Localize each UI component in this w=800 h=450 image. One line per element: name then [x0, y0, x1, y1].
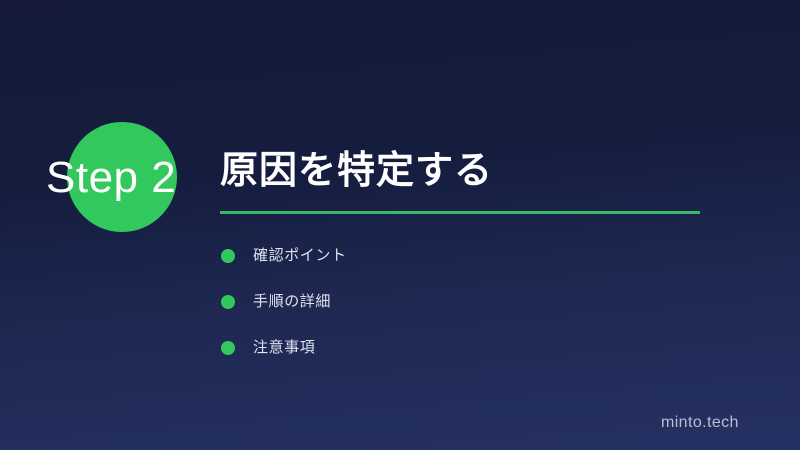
list-item: 注意事項 — [220, 325, 690, 371]
footer-brand: minto.tech — [661, 414, 739, 432]
step-badge-label: Step 2 — [46, 152, 206, 204]
list-item-label: 確認ポイント — [253, 246, 347, 266]
bullet-dot-icon — [221, 295, 235, 309]
bullet-dot-icon — [221, 249, 235, 263]
presentation-slide: Step 2 原因を特定する 確認ポイント 手順の詳細 注意事項 minto.t… — [0, 0, 800, 450]
slide-title: 原因を特定する — [220, 146, 493, 196]
bullet-dot-icon — [221, 341, 235, 355]
list-item: 手順の詳細 — [220, 279, 690, 325]
list-item-label: 手順の詳細 — [253, 292, 331, 312]
bullet-list: 確認ポイント 手順の詳細 注意事項 — [220, 233, 690, 371]
title-divider — [220, 211, 700, 214]
list-item: 確認ポイント — [220, 233, 690, 279]
list-item-label: 注意事項 — [253, 338, 315, 358]
